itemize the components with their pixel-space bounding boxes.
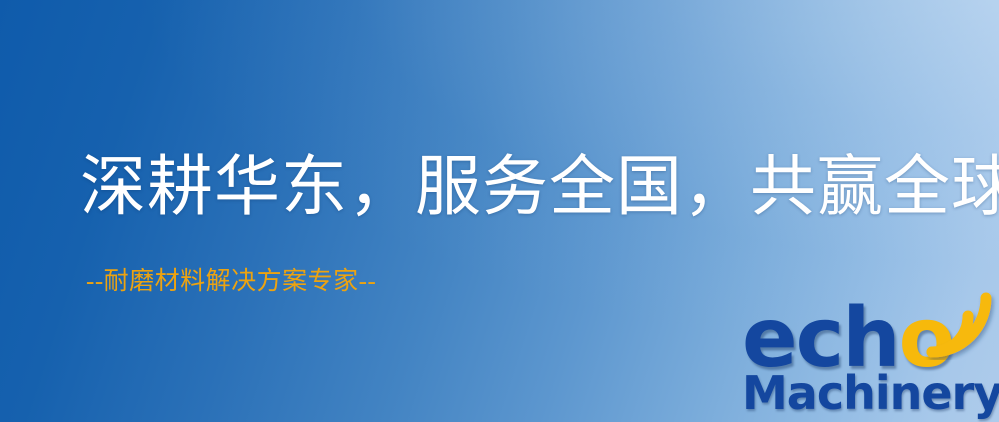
banner-headline: 深耕华东，服务全国，共赢全球 (80, 152, 999, 223)
echo-waves-icon (924, 292, 999, 360)
logo-subword: Machinery® (742, 368, 999, 416)
logo-subword-text: Machinery (742, 366, 999, 420)
echo-machinery-logo[interactable]: echo Machinery® (742, 296, 999, 422)
hero-banner: 深耕华东，服务全国，共赢全球 --耐磨材料解决方案专家-- echo Machi… (0, 0, 999, 422)
banner-subtitle: --耐磨材料解决方案专家-- (86, 268, 376, 296)
